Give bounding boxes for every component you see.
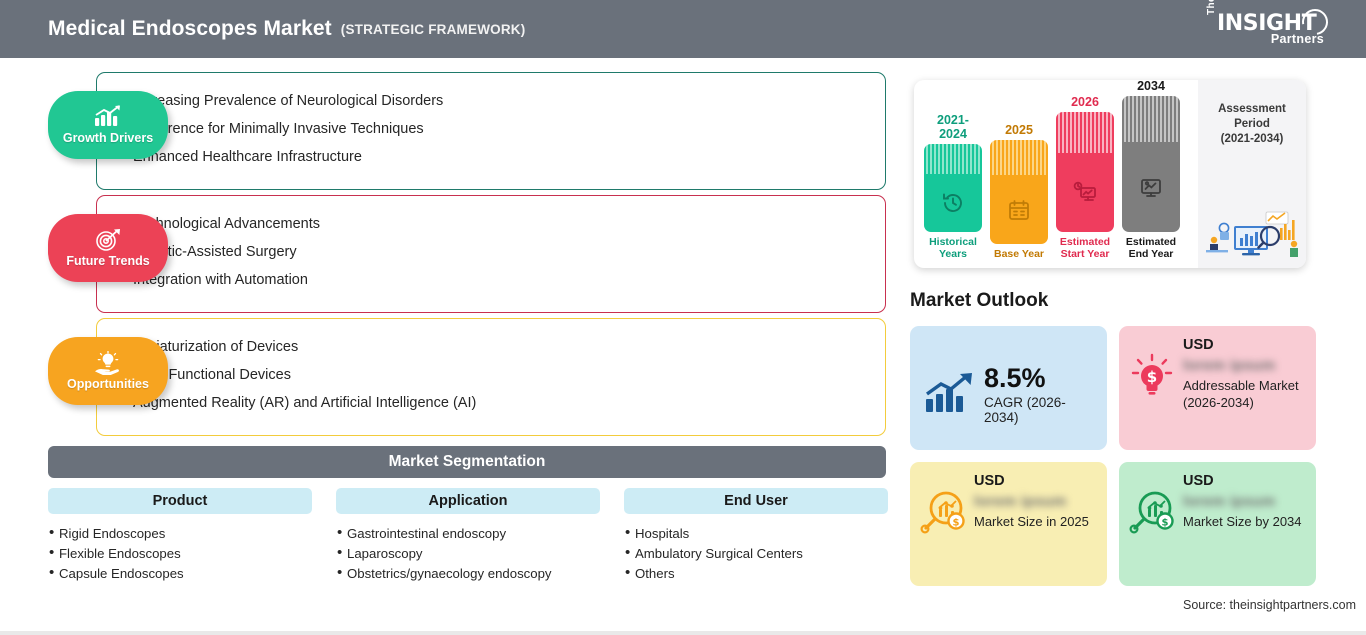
currency-label: USD <box>974 473 1089 489</box>
list-item: Flexible Endoscopes <box>59 544 312 564</box>
magnifier-chart-dollar-icon: $ <box>920 489 966 535</box>
card-label: Market Size by 2034 <box>1183 513 1302 530</box>
card-label: Market Size in 2025 <box>974 513 1089 530</box>
cagr-value: 8.5% <box>984 363 1097 393</box>
timeline-caption: Estimated End Year <box>1122 236 1180 260</box>
page-subtitle: (STRATEGIC FRAMEWORK) <box>341 22 526 37</box>
badge-label: Growth Drivers <box>63 131 153 145</box>
list-item: Multi-Functional Devices <box>133 361 885 389</box>
market-segmentation-title: Market Segmentation <box>48 446 886 478</box>
segment-header: Product <box>48 488 312 514</box>
assessment-period-panel: Assessment Period (2021-2034) <box>1198 80 1306 268</box>
timeline-year: 2034 <box>1122 80 1180 93</box>
market-outlook-cards: 8.5% CAGR (2026-2034) $ <box>910 326 1322 586</box>
timeline-item-estimated-end: 2034 Estimated End Year <box>1122 80 1180 260</box>
timeline-caption: Base Year <box>990 248 1048 260</box>
cagr-card: 8.5% CAGR (2026-2034) <box>910 326 1107 450</box>
badge-label: Opportunities <box>67 377 149 391</box>
assessment-line-2: Period <box>1218 117 1286 132</box>
growth-drivers-badge[interactable]: Growth Drivers <box>48 91 168 159</box>
lightbulb-dollar-icon: $ <box>1129 353 1175 399</box>
target-arrow-icon <box>94 228 122 252</box>
timeline-item-estimated-start: 2026 Estimated Start Year <box>1056 95 1114 260</box>
svg-text:$: $ <box>1162 518 1169 529</box>
forecast-chart-icon <box>1056 153 1114 232</box>
list-item: Others <box>635 564 888 584</box>
list-item: Technological Advancements <box>133 210 885 238</box>
magnifier-chart-dollar-icon: $ <box>1129 489 1175 535</box>
blurred-value: lorem ipsum <box>1183 493 1302 510</box>
clock-history-icon <box>924 174 982 232</box>
market-size-2034-card: $ USD lorem ipsum Market Size by 2034 <box>1119 462 1316 586</box>
timeline-caption: Estimated Start Year <box>1056 236 1114 260</box>
growth-drivers-panel: Increasing Prevalence of Neurological Di… <box>96 72 886 190</box>
logo-the: The <box>1206 0 1217 15</box>
market-size-2025-card: $ USD lorem ipsum Market Size in 2025 <box>910 462 1107 586</box>
segmentation-column-application: Application Gastrointestinal endoscopy L… <box>336 488 600 584</box>
card-label: Addressable Market (2026-2034) <box>1183 377 1306 411</box>
stripe-pattern <box>1056 112 1114 153</box>
list-item: Ambulatory Surgical Centers <box>635 544 888 564</box>
stripe-pattern <box>990 140 1048 175</box>
blurred-value: lorem ipsum <box>974 493 1089 510</box>
assessment-line-1: Assessment <box>1218 102 1286 117</box>
list-item: Hospitals <box>635 524 888 544</box>
analytics-dashboard-illustration <box>1200 206 1304 262</box>
market-size-2025-body: USD lorem ipsum Market Size in 2025 <box>974 473 1089 586</box>
framework-column: Increasing Prevalence of Neurological Di… <box>0 58 900 635</box>
infographic-page: Medical Endoscopes Market (STRATEGIC FRA… <box>0 0 1366 635</box>
timeline-bars: 2021-2024 Historical Years 2025 <box>922 80 1190 268</box>
addressable-market-card: $ USD lorem ipsum Addressable Market (20… <box>1119 326 1316 450</box>
source-text: Source: theinsightpartners.com <box>1183 598 1356 612</box>
future-trends-badge[interactable]: Future Trends <box>48 214 168 282</box>
page-title: Medical Endoscopes Market <box>48 17 332 41</box>
list-item: Laparoscopy <box>347 544 600 564</box>
future-trends-panel: Technological Advancements Robotic-Assis… <box>96 195 886 313</box>
insight-partners-logo: The INSIGHT Partners <box>1206 9 1328 49</box>
list-item: Rigid Endoscopes <box>59 524 312 544</box>
presentation-chart-icon <box>1122 142 1180 232</box>
list-item: Integration with Automation <box>133 266 885 294</box>
svg-text:$: $ <box>953 518 960 529</box>
list-item: Enhanced Healthcare Infrastructure <box>133 143 885 171</box>
list-item: Preference for Minimally Invasive Techni… <box>133 115 885 143</box>
list-item: Capsule Endoscopes <box>59 564 312 584</box>
stripe-pattern <box>1122 96 1180 142</box>
segment-header: End User <box>624 488 888 514</box>
timeline-year: 2026 <box>1056 95 1114 109</box>
badge-label: Future Trends <box>66 254 149 268</box>
header-bar: Medical Endoscopes Market (STRATEGIC FRA… <box>0 0 1366 58</box>
timeline-item-historical: 2021-2024 Historical Years <box>924 113 982 260</box>
timeline-year: 2021-2024 <box>924 113 982 141</box>
currency-label: USD <box>1183 473 1302 489</box>
opportunities-panel: Miniaturization of Devices Multi-Functio… <box>96 318 886 436</box>
timeline-item-base: 2025 Base Year <box>990 123 1048 260</box>
list-item: Robotic-Assisted Surgery <box>133 238 885 266</box>
list-item: Increasing Prevalence of Neurological Di… <box>133 87 885 115</box>
opportunities-badge[interactable]: Opportunities <box>48 337 168 405</box>
list-item: Gastrointestinal endoscopy <box>347 524 600 544</box>
currency-label: USD <box>1183 337 1306 353</box>
calendar-icon <box>990 175 1048 244</box>
market-size-2034-body: USD lorem ipsum Market Size by 2034 <box>1183 473 1302 586</box>
timeline-caption: Historical Years <box>924 236 982 260</box>
logo-partners: Partners <box>1271 32 1324 46</box>
cagr-body: 8.5% CAGR (2026-2034) <box>984 363 1097 425</box>
opportunities-list: Miniaturization of Devices Multi-Functio… <box>97 319 885 417</box>
assessment-period-text: Assessment Period (2021-2034) <box>1218 102 1286 147</box>
list-item: Obstetrics/gynaecology endoscopy <box>347 564 600 584</box>
blurred-value: lorem ipsum <box>1183 357 1306 374</box>
bar-chart-arrow-icon <box>924 372 976 416</box>
future-trends-list: Technological Advancements Robotic-Assis… <box>97 196 885 294</box>
assessment-timeline-panel: 2021-2024 Historical Years 2025 <box>914 80 1306 268</box>
list-item: Augmented Reality (AR) and Artificial In… <box>133 389 885 417</box>
market-outlook-title: Market Outlook <box>910 290 1048 312</box>
segment-items: Hospitals Ambulatory Surgical Centers Ot… <box>624 524 888 584</box>
lightbulb-hand-icon <box>92 351 124 375</box>
segmentation-columns: Product Rigid Endoscopes Flexible Endosc… <box>48 488 888 584</box>
timeline-year: 2025 <box>990 123 1048 137</box>
growth-drivers-list: Increasing Prevalence of Neurological Di… <box>97 73 885 171</box>
segment-items: Gastrointestinal endoscopy Laparoscopy O… <box>336 524 600 584</box>
bar-chart-growth-icon <box>93 105 123 129</box>
assessment-line-3: (2021-2034) <box>1218 132 1286 147</box>
stripe-pattern <box>924 144 982 174</box>
segmentation-column-end-user: End User Hospitals Ambulatory Surgical C… <box>624 488 888 584</box>
svg-text:$: $ <box>1147 368 1157 386</box>
list-item: Miniaturization of Devices <box>133 333 885 361</box>
outlook-column: 2021-2024 Historical Years 2025 <box>900 58 1366 635</box>
cagr-label: CAGR (2026-2034) <box>984 395 1097 425</box>
segment-header: Application <box>336 488 600 514</box>
addressable-market-body: USD lorem ipsum Addressable Market (2026… <box>1183 337 1306 450</box>
segment-items: Rigid Endoscopes Flexible Endoscopes Cap… <box>48 524 312 584</box>
segmentation-column-product: Product Rigid Endoscopes Flexible Endosc… <box>48 488 312 584</box>
